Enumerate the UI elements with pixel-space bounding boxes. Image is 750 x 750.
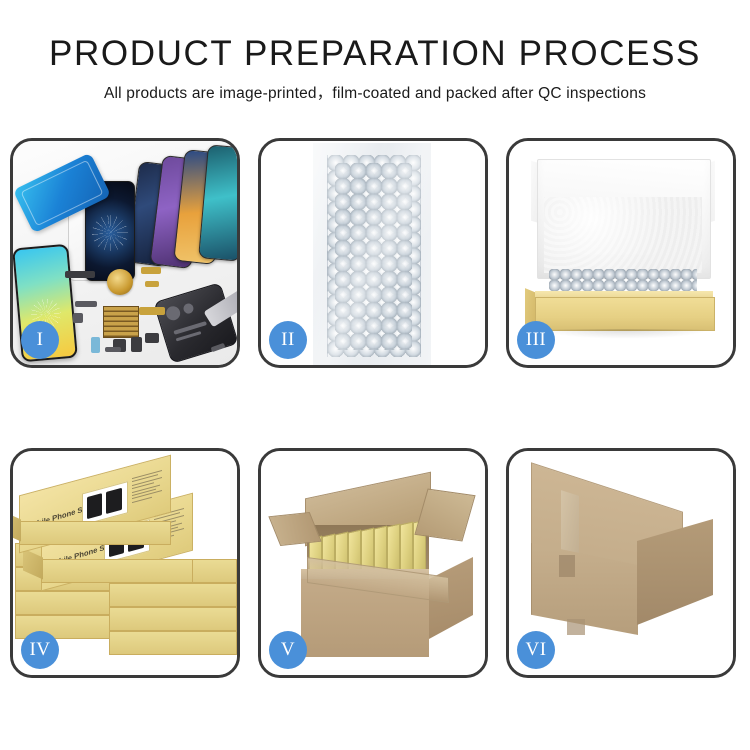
inner-box-panel: III xyxy=(506,138,736,368)
small-part-icon xyxy=(75,301,97,307)
flex-cable-icon xyxy=(139,307,165,315)
page-title: PRODUCT PREPARATION PROCESS xyxy=(0,33,750,75)
chip-icon xyxy=(65,271,95,278)
process-step-grid: I II III xyxy=(10,138,740,678)
step-badge: I xyxy=(21,321,59,359)
retail-box-artwork xyxy=(82,481,128,525)
step-badge: II xyxy=(269,321,307,359)
carton-seam-tab xyxy=(567,619,585,635)
box-front-face xyxy=(535,297,715,331)
flex-cable-icon xyxy=(145,281,159,287)
step-badge: III xyxy=(517,321,555,359)
connector-grid-icon xyxy=(103,306,139,338)
sealed-carton-panel: VI xyxy=(506,448,736,678)
retail-box-text-lines xyxy=(132,470,164,506)
step-badge: V xyxy=(269,631,307,669)
page-subtitle: All products are image-printed，film-coat… xyxy=(0,83,750,105)
step-badge: IV xyxy=(21,631,59,669)
step-badge: VI xyxy=(517,631,555,669)
chip-icon xyxy=(131,337,142,352)
phone-parts-panel: I xyxy=(10,138,240,368)
battery-icon xyxy=(91,337,100,353)
small-part-icon xyxy=(105,347,121,352)
open-carton-panel: V xyxy=(258,448,488,678)
drop-shadow xyxy=(539,329,711,339)
copper-coil-icon xyxy=(107,269,133,295)
foam-padding xyxy=(544,197,702,273)
flex-cable-icon xyxy=(141,267,161,274)
film-sheen xyxy=(313,143,431,365)
carton-seam-tab xyxy=(559,555,575,577)
small-part-icon xyxy=(73,313,83,323)
camera-module-icon xyxy=(145,333,159,343)
bubble-wrap-panel: II xyxy=(258,138,488,368)
header: PRODUCT PREPARATION PROCESS All products… xyxy=(0,0,750,105)
stacked-boxes-panel: Mobile Phone Spare Parts xyxy=(10,448,240,678)
